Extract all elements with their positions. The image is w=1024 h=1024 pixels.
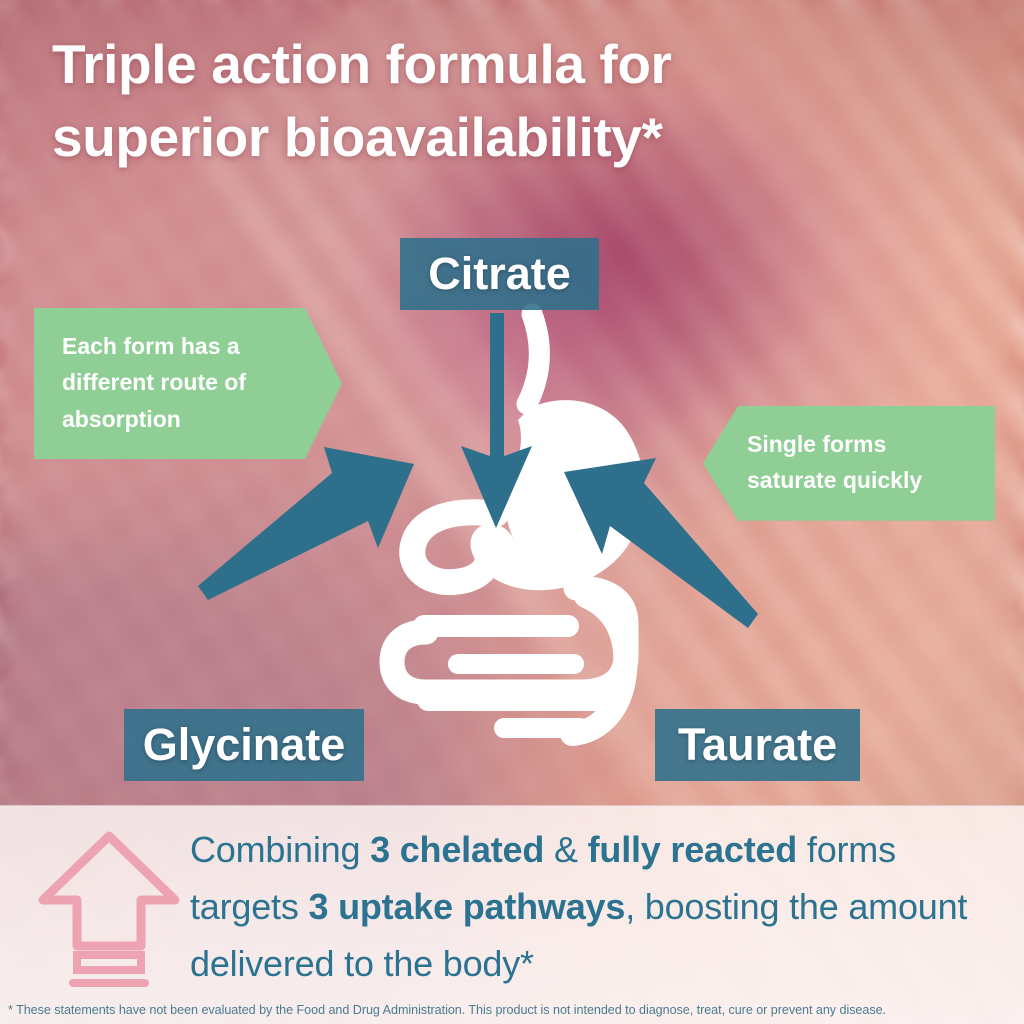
label-glycinate: Glycinate xyxy=(124,709,364,781)
large-intestine-lower-icon xyxy=(392,632,426,692)
up-arrow-icon xyxy=(34,828,184,988)
callout-left-text: Each form has a different route of absor… xyxy=(62,333,246,432)
summary-text: Combining 3 chelated & fully reacted for… xyxy=(190,822,1004,993)
digestive-system-illustration xyxy=(318,296,748,746)
headline-line-2: superior bioavailability* xyxy=(52,101,902,174)
label-glycinate-text: Glycinate xyxy=(143,719,346,771)
summary-part-5: 3 uptake pathways xyxy=(308,886,625,927)
summary-part-0: Combining xyxy=(190,829,370,870)
label-taurate-text: Taurate xyxy=(678,719,837,771)
headline-line-1: Triple action formula for xyxy=(52,33,672,95)
label-taurate: Taurate xyxy=(655,709,860,781)
duodenum-icon xyxy=(412,512,496,582)
infographic-canvas: Triple action formula for superior bioav… xyxy=(0,0,1024,1024)
page-title: Triple action formula for superior bioav… xyxy=(52,28,902,173)
label-citrate-text: Citrate xyxy=(428,248,571,300)
bottom-summary-panel: Combining 3 chelated & fully reacted for… xyxy=(0,805,1024,1024)
summary-part-3: fully reacted xyxy=(588,829,797,870)
summary-part-2: & xyxy=(544,829,587,870)
callout-left: Each form has a different route of absor… xyxy=(34,308,342,459)
label-citrate: Citrate xyxy=(400,238,599,310)
callout-right: Single forms saturate quickly xyxy=(703,406,995,521)
esophagus-icon xyxy=(527,314,539,404)
fda-disclaimer: * These statements have not been evaluat… xyxy=(8,1003,1020,1019)
callout-right-text: Single forms saturate quickly xyxy=(747,431,922,493)
summary-part-1: 3 chelated xyxy=(370,829,544,870)
